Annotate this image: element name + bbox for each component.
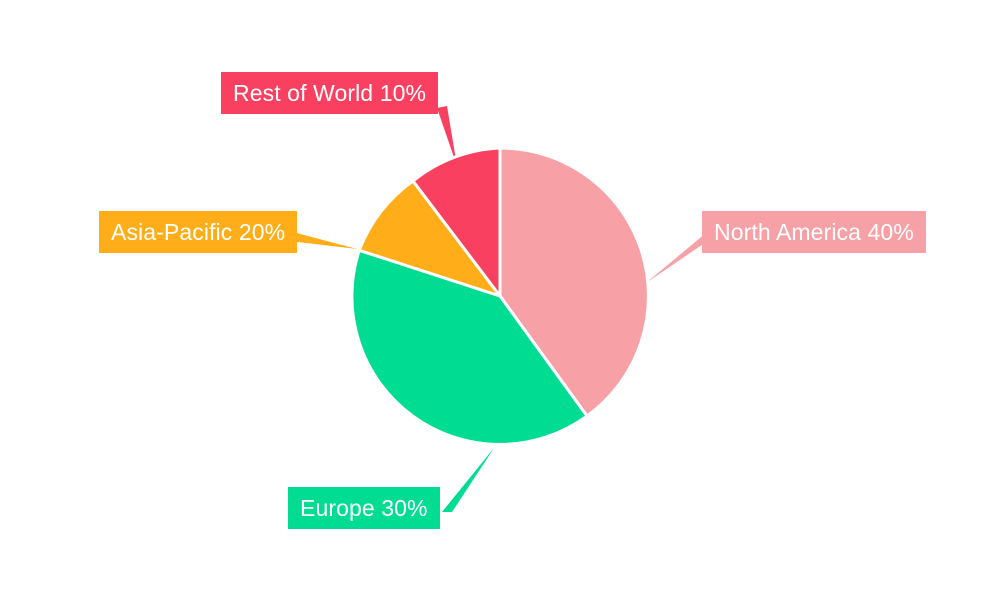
pie-chart-canvas [0, 0, 1000, 600]
leader-line-asia-pacific [289, 231, 357, 249]
slice-label-rest-of-world[interactable]: Rest of World 10% [221, 72, 438, 114]
slice-label-north-america[interactable]: North America 40% [702, 211, 926, 253]
pie-chart-figure: North America 40% Europe 30% Asia-Pacifi… [0, 0, 1000, 600]
leader-line-europe [442, 448, 494, 512]
slice-label-europe[interactable]: Europe 30% [288, 487, 440, 529]
slice-label-asia-pacific[interactable]: Asia-Pacific 20% [99, 211, 297, 253]
pie-slices [352, 148, 649, 444]
